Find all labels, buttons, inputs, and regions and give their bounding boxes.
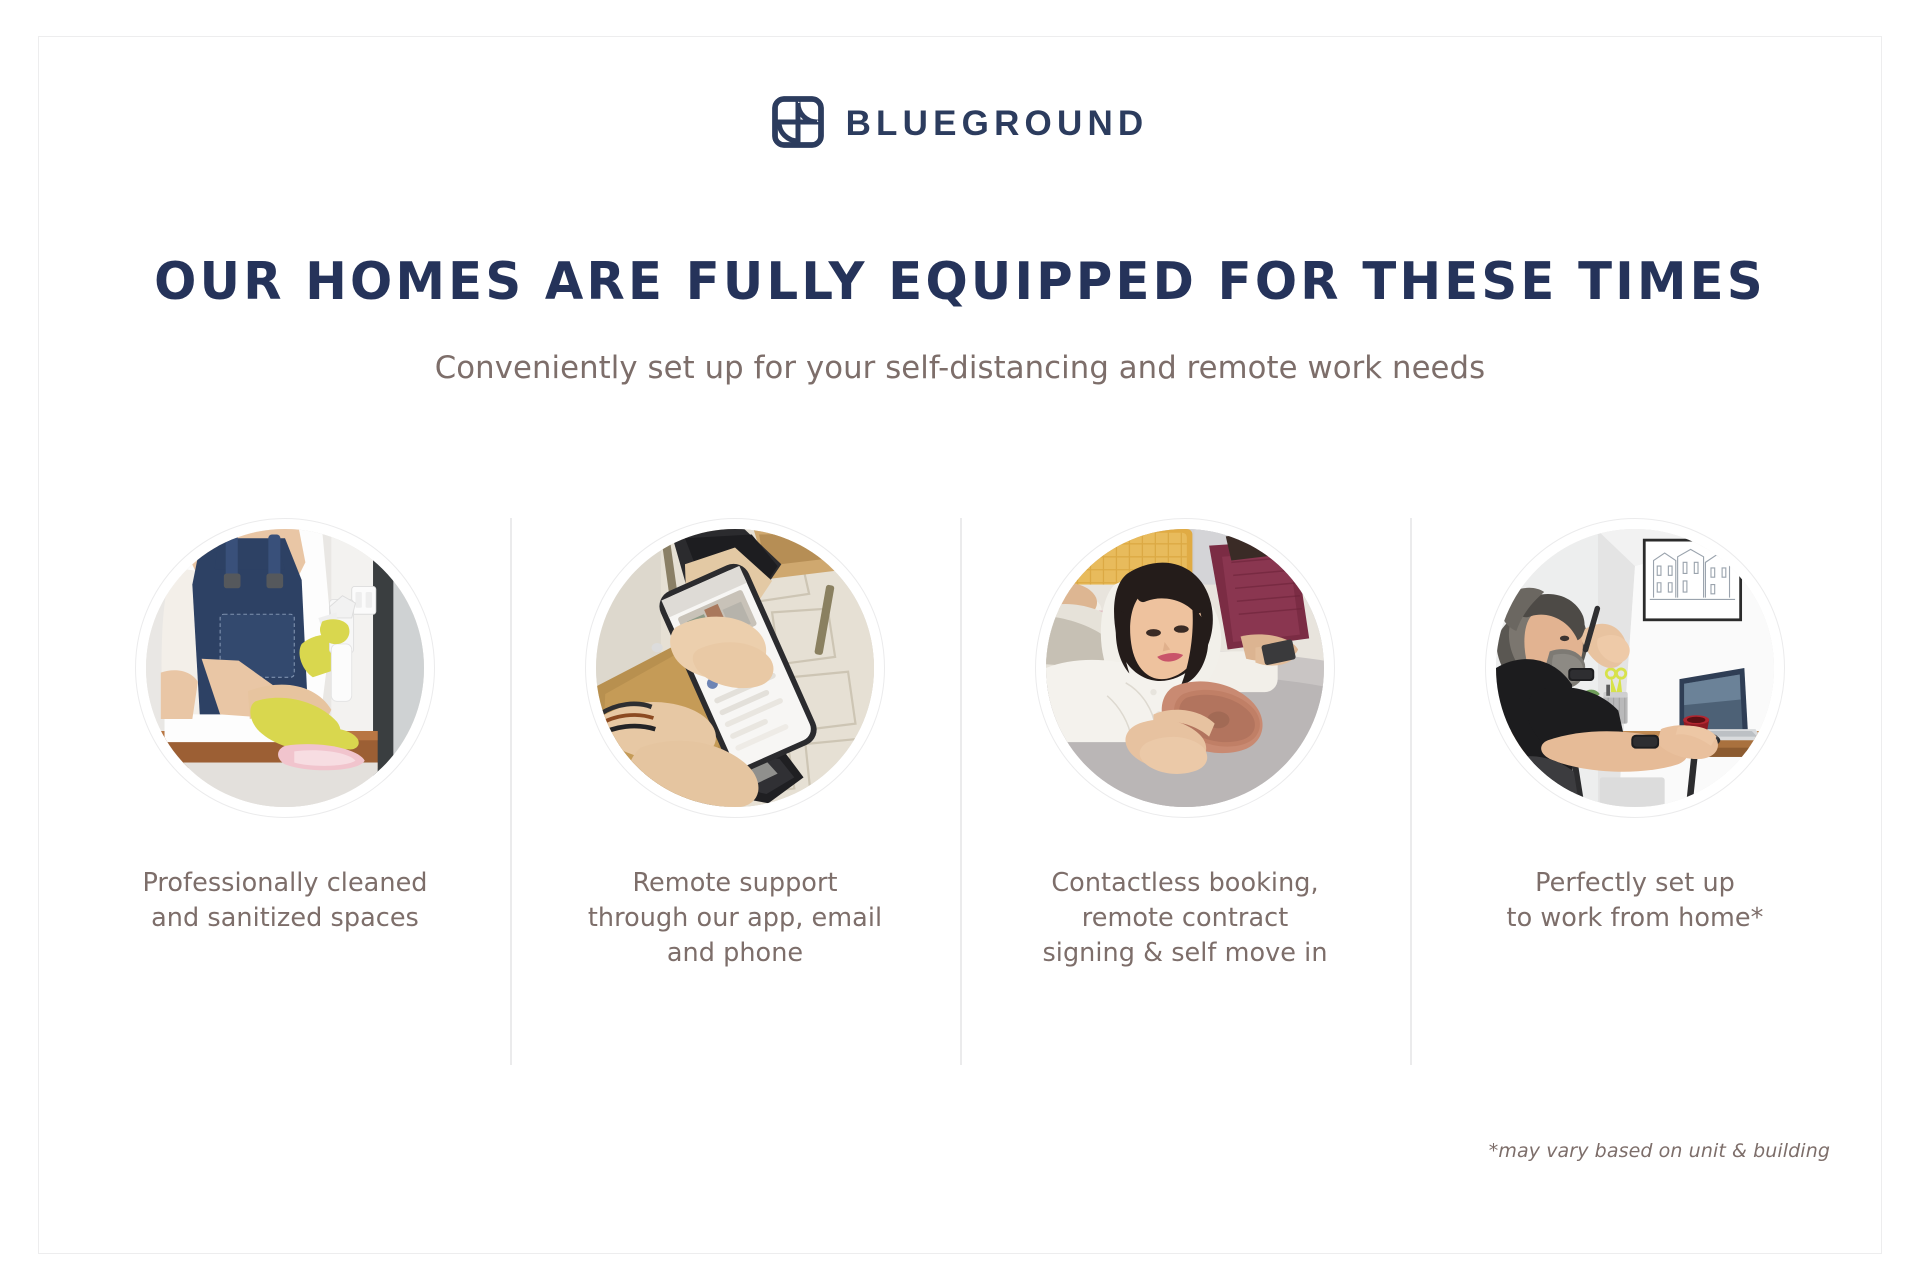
feature-column-remote-support: Remote support through our app, email an… <box>510 518 960 1068</box>
photo-circle-mask <box>596 529 874 807</box>
work-from-home-desk-photo <box>1485 518 1785 818</box>
photo-circle-mask <box>1496 529 1774 807</box>
photo-circle-mask <box>146 529 424 807</box>
feature-caption: Remote support through our app, email an… <box>588 866 882 971</box>
remote-support-phone-photo <box>585 518 885 818</box>
framed-artwork <box>1644 540 1740 620</box>
feature-column-cleaning: Professionally cleaned and sanitized spa… <box>60 518 510 1068</box>
page-subtitle: Conveniently set up for your self-distan… <box>10 350 1911 386</box>
professional-cleaning-photo <box>135 518 435 818</box>
page-title: OUR HOMES ARE FULLY EQUIPPED FOR THESE T… <box>43 252 1877 312</box>
feature-column-contactless-booking: Contactless booking, remote contract sig… <box>960 518 1410 1068</box>
brand-wordmark: BLUEGROUND <box>846 104 1149 141</box>
marketing-infographic-page: BLUEGROUND OUR HOMES ARE FULLY EQUIPPED … <box>0 0 1920 1280</box>
contactless-booking-tablet-photo <box>1035 518 1335 818</box>
brand-logo: BLUEGROUND <box>0 96 1920 148</box>
feature-column-work-from-home: Perfectly set up to work from home* <box>1410 518 1860 1068</box>
feature-caption: Contactless booking, remote contract sig… <box>1042 866 1327 971</box>
photo-circle-mask <box>1046 529 1324 807</box>
feature-columns: Professionally cleaned and sanitized spa… <box>60 518 1860 1068</box>
footnote-disclaimer: *may vary based on unit & building <box>1489 1140 1830 1162</box>
feature-caption: Perfectly set up to work from home* <box>1507 866 1764 936</box>
blueground-square-logo-icon <box>772 96 824 148</box>
feature-caption: Professionally cleaned and sanitized spa… <box>142 866 427 936</box>
